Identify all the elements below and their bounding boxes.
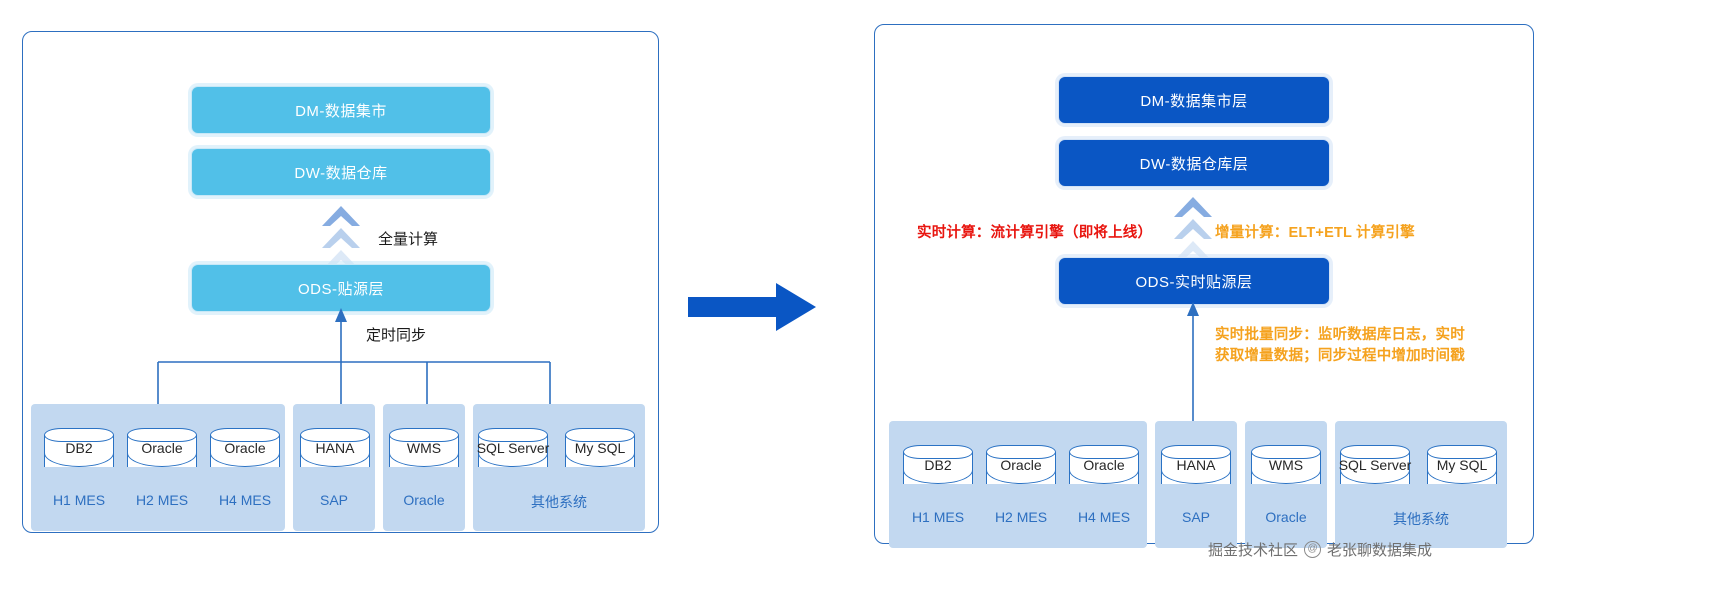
left-upward-chevron-icon <box>320 204 362 272</box>
right-database-hana-label: HANA <box>1147 457 1245 473</box>
right-caption-oracle-text: Oracle <box>1265 509 1306 525</box>
right-caption-sap: SAP <box>1152 509 1240 525</box>
left-caption-sap: SAP <box>290 492 378 508</box>
left-caption-oracle-text: Oracle <box>403 492 444 508</box>
watermark-author: 老张聊数据集成 <box>1327 539 1432 560</box>
right-caption-h4-mes: H4 MES <box>1059 509 1149 525</box>
watermark-site: 掘金技术社区 <box>1208 539 1298 560</box>
left-database-mysql: My SQL <box>565 428 635 474</box>
right-caption-oracle: Oracle <box>1242 509 1330 525</box>
right-caption-h2-mes-text: H2 MES <box>995 509 1047 525</box>
left-layer-dm: DM-数据集市 <box>191 86 491 134</box>
left-caption-other: 其他系统 <box>473 492 645 512</box>
left-database-oracle-2: Oracle <box>210 428 280 474</box>
right-sync-note-line1: 实时批量同步：监听数据库日志，实时 <box>1215 325 1465 346</box>
right-sync-note: 实时批量同步：监听数据库日志，实时 获取增量数据；同步过程中增加时间戳 <box>1215 325 1465 367</box>
left-layer-ods-label: ODS-贴源层 <box>298 278 384 299</box>
right-database-sqlserver: SQL Server <box>1340 445 1410 491</box>
right-caption-other: 其他系统 <box>1335 509 1507 529</box>
right-database-mysql: My SQL <box>1427 445 1497 491</box>
left-layer-dw: DW-数据仓库 <box>191 148 491 196</box>
left-database-wms-label: WMS <box>375 440 473 456</box>
at-icon: @ <box>1304 541 1321 558</box>
left-scheduled-sync-label: 定时同步 <box>366 324 426 345</box>
right-incremental-calculation-label: 增量计算：ELT+ETL 计算引擎 <box>1215 221 1415 242</box>
left-caption-other-text: 其他系统 <box>531 494 587 510</box>
right-database-wms: WMS <box>1251 445 1321 491</box>
right-layer-ods-label: ODS-实时贴源层 <box>1135 271 1252 292</box>
left-caption-h2-mes-text: H2 MES <box>136 492 188 508</box>
left-database-hana: HANA <box>300 428 370 474</box>
left-database-sqlserver: SQL Server <box>478 428 548 474</box>
right-database-mysql-label: My SQL <box>1413 457 1511 473</box>
left-database-oracle-1: Oracle <box>127 428 197 474</box>
right-database-wms-label: WMS <box>1237 457 1335 473</box>
right-caption-sap-text: SAP <box>1182 509 1210 525</box>
left-layer-ods: ODS-贴源层 <box>191 264 491 312</box>
left-caption-h4-mes-text: H4 MES <box>219 492 271 508</box>
right-upward-chevron-icon <box>1172 195 1214 263</box>
left-database-mysql-label: My SQL <box>551 440 649 456</box>
right-layer-ods: ODS-实时贴源层 <box>1058 257 1330 305</box>
left-caption-h1-mes-text: H1 MES <box>53 492 105 508</box>
left-full-calculation-label: 全量计算 <box>378 228 438 249</box>
left-database-db2: DB2 <box>44 428 114 474</box>
right-caption-h4-mes-text: H4 MES <box>1078 509 1130 525</box>
right-layer-dm: DM-数据集市层 <box>1058 76 1330 124</box>
left-caption-oracle: Oracle <box>380 492 468 508</box>
right-database-db2: DB2 <box>903 445 973 491</box>
diagram-canvas: DM-数据集市 DW-数据仓库 全量计算 ODS-贴源层 定时同步 <box>0 0 1735 610</box>
right-caption-h1-mes: H1 MES <box>893 509 983 525</box>
right-caption-other-text: 其他系统 <box>1393 511 1449 527</box>
left-layer-dw-label: DW-数据仓库 <box>294 162 387 183</box>
right-database-hana: HANA <box>1161 445 1231 491</box>
left-caption-h2-mes: H2 MES <box>117 492 207 508</box>
watermark: 掘金技术社区 @ 老张聊数据集成 <box>1208 539 1432 560</box>
right-realtime-calculation-label: 实时计算：流计算引擎（即将上线） <box>917 221 1152 242</box>
right-caption-h2-mes: H2 MES <box>976 509 1066 525</box>
right-database-oracle-1: Oracle <box>986 445 1056 491</box>
transition-arrow-icon <box>688 281 818 338</box>
left-database-hana-label: HANA <box>286 440 384 456</box>
left-database-wms: WMS <box>389 428 459 474</box>
right-architecture-panel: DM-数据集市层 DW-数据仓库层 实时计算：流计算引擎（即将上线） 增量计算：… <box>874 24 1534 544</box>
right-database-sqlserver-label: SQL Server <box>1326 457 1424 473</box>
right-database-oracle-2: Oracle <box>1069 445 1139 491</box>
left-caption-h1-mes: H1 MES <box>34 492 124 508</box>
left-architecture-panel: DM-数据集市 DW-数据仓库 全量计算 ODS-贴源层 定时同步 <box>22 31 659 533</box>
right-layer-dw: DW-数据仓库层 <box>1058 139 1330 187</box>
left-caption-sap-text: SAP <box>320 492 348 508</box>
left-layer-dm-label: DM-数据集市 <box>295 100 387 121</box>
right-sync-note-line2: 获取增量数据；同步过程中增加时间戳 <box>1215 346 1465 367</box>
left-caption-h4-mes: H4 MES <box>200 492 290 508</box>
right-caption-h1-mes-text: H1 MES <box>912 509 964 525</box>
right-database-oracle-2-label: Oracle <box>1055 457 1153 473</box>
right-layer-dm-label: DM-数据集市层 <box>1140 90 1247 111</box>
left-database-oracle-2-label: Oracle <box>196 440 294 456</box>
right-layer-dw-label: DW-数据仓库层 <box>1140 153 1249 174</box>
left-database-sqlserver-label: SQL Server <box>464 440 562 456</box>
